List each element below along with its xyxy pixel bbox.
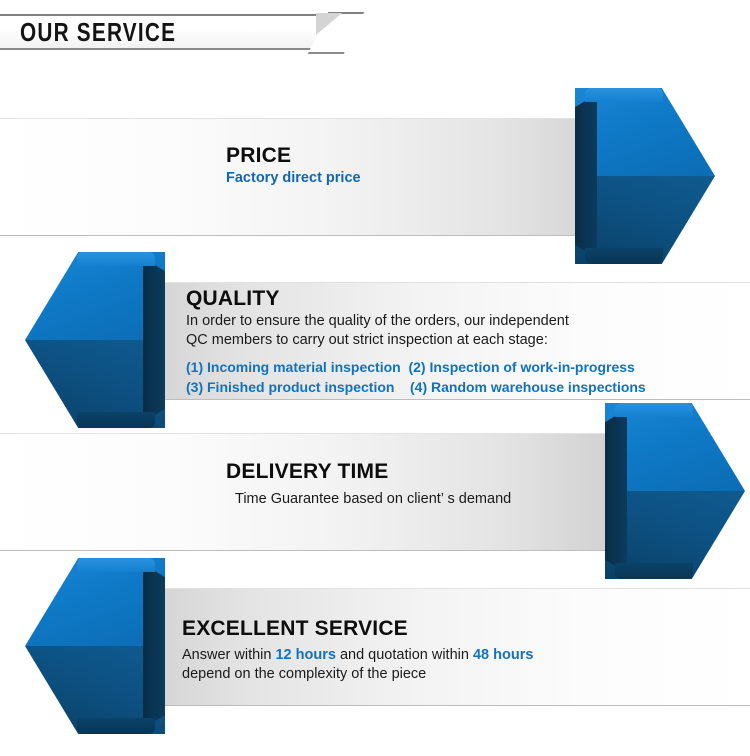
arrow-side-wall — [605, 409, 627, 573]
quality-list-line-1: (1) Incoming material inspection (2) Ins… — [186, 357, 646, 377]
excellent-service-body-line-1: Answer within 12 hours and quotation wit… — [182, 642, 533, 665]
quality-body-line-2: QC members to carry out strict inspectio… — [186, 331, 646, 350]
quality-body-line-1: In order to ensure the quality of the or… — [186, 312, 646, 331]
arrow-quality — [25, 252, 165, 428]
arrow-price — [575, 88, 715, 264]
arrow-bevel-edge — [77, 252, 155, 266]
arrow-side-wall — [143, 258, 165, 422]
header-ribbon-fold-triangle — [316, 13, 342, 35]
page-header: OUR SERVICE — [0, 0, 750, 62]
arrow-bevel-edge — [77, 558, 155, 572]
quality-spacer — [186, 350, 646, 357]
page-title: OUR SERVICE — [20, 17, 176, 47]
arrow-delivery-time — [605, 403, 745, 579]
es-prefix: Answer within — [182, 647, 275, 663]
es-highlight-48-hours: 48 hours — [473, 647, 533, 663]
price-heading: PRICE — [226, 143, 361, 169]
excellent-service-body-line-2: depend on the complexity of the piece — [182, 665, 533, 684]
arrow-bevel-edge — [585, 88, 663, 102]
excellent-service-text-block: EXCELLENT SERVICE Answer within 12 hours… — [182, 616, 533, 684]
arrow-bevel-edge — [615, 403, 693, 417]
arrow-foot-edge — [77, 412, 155, 428]
arrow-side-wall — [575, 94, 597, 258]
arrow-foot-edge — [585, 248, 663, 264]
delivery-time-heading: DELIVERY TIME — [226, 459, 511, 485]
arrow-foot-edge — [77, 718, 155, 734]
price-subtitle: Factory direct price — [226, 169, 361, 188]
price-text-block: PRICE Factory direct price — [226, 143, 361, 188]
quality-heading: QUALITY — [186, 286, 646, 312]
quality-text-block: QUALITY In order to ensure the quality o… — [186, 286, 646, 397]
es-mid: and quotation within — [336, 647, 473, 663]
arrow-foot-edge — [615, 563, 693, 579]
es-highlight-12-hours: 12 hours — [275, 647, 335, 663]
delivery-time-subtitle: Time Guarantee based on client’ s demand — [226, 485, 511, 509]
arrow-excellent-service — [25, 558, 165, 734]
excellent-service-heading: EXCELLENT SERVICE — [182, 616, 533, 642]
arrow-side-wall — [143, 564, 165, 728]
quality-list-line-2: (3) Finished product inspection (4) Rand… — [186, 377, 646, 397]
delivery-time-text-block: DELIVERY TIME Time Guarantee based on cl… — [226, 459, 511, 509]
